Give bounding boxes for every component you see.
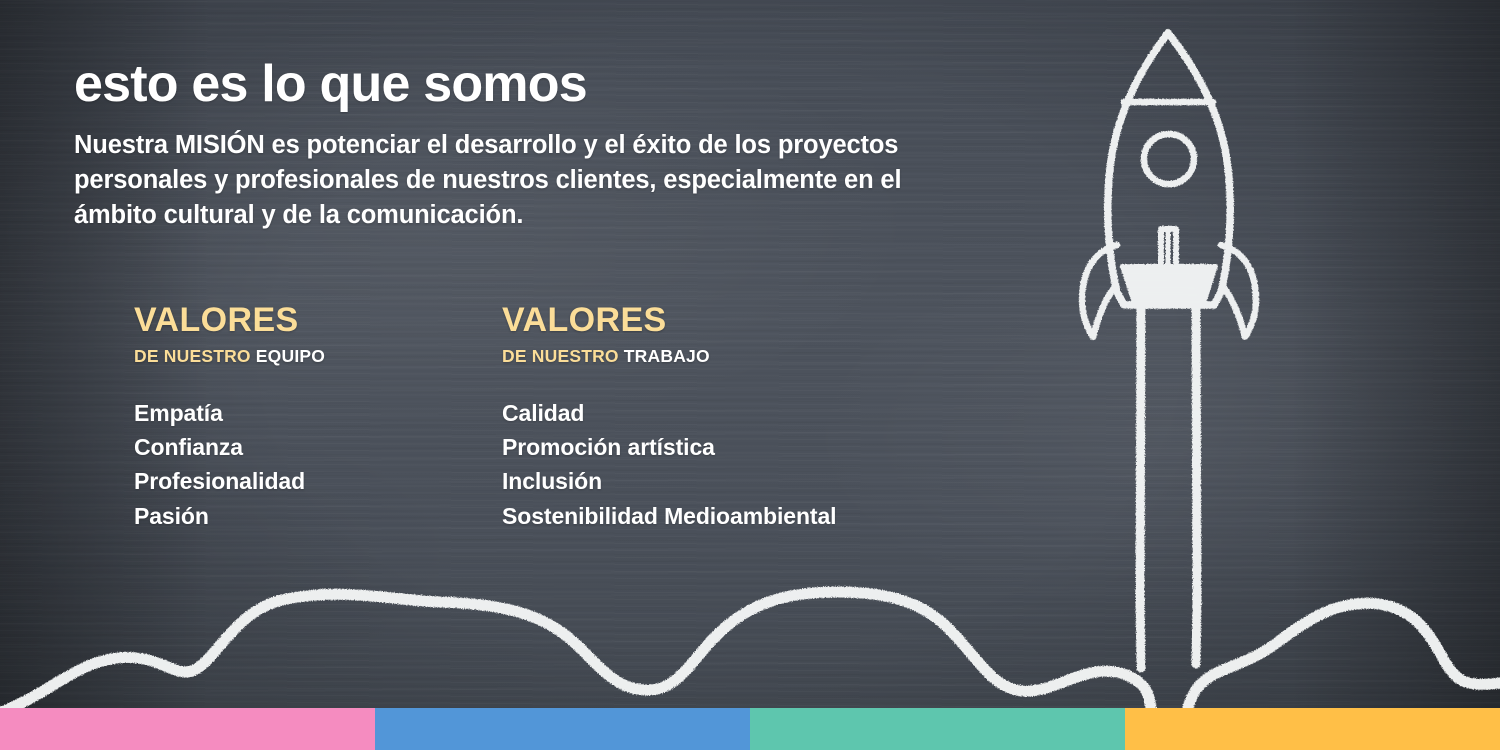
values-list-trabajo: Calidad Promoción artística Inclusión So… [502, 396, 836, 534]
bottom-color-bars [0, 708, 1500, 750]
slide-canvas: esto es lo que somos Nuestra MISIÓN es p… [0, 0, 1500, 750]
values-subheading-strong-trabajo: TRABAJO [624, 346, 710, 366]
bar-teal [750, 708, 1125, 750]
list-item: Empatía [134, 396, 325, 430]
values-column-equipo: VALORES DE NUESTRO EQUIPO Empatía Confia… [134, 303, 325, 533]
mission-statement: Nuestra MISIÓN es potenciar el desarroll… [74, 128, 954, 234]
list-item: Profesionalidad [134, 464, 325, 498]
bar-orange [1125, 708, 1500, 750]
list-item: Inclusión [502, 464, 836, 498]
values-heading-equipo: VALORES [134, 303, 325, 337]
values-heading-trabajo: VALORES [502, 303, 836, 337]
page-title: esto es lo que somos [74, 58, 587, 110]
values-list-equipo: Empatía Confianza Profesionalidad Pasión [134, 396, 325, 534]
list-item: Pasión [134, 499, 325, 533]
text-content: esto es lo que somos Nuestra MISIÓN es p… [0, 0, 1500, 750]
values-subheading-trabajo: DE NUESTRO TRABAJO [502, 348, 836, 366]
values-subheading-prefix-equipo: DE NUESTRO [134, 346, 251, 366]
values-subheading-strong-equipo: EQUIPO [256, 346, 325, 366]
bar-blue [375, 708, 750, 750]
values-subheading-equipo: DE NUESTRO EQUIPO [134, 348, 325, 366]
list-item: Confianza [134, 430, 325, 464]
list-item: Sostenibilidad Medioambiental [502, 499, 836, 533]
list-item: Promoción artística [502, 430, 836, 464]
values-column-trabajo: VALORES DE NUESTRO TRABAJO Calidad Promo… [502, 303, 836, 533]
list-item: Calidad [502, 396, 836, 430]
values-subheading-prefix-trabajo: DE NUESTRO [502, 346, 619, 366]
bar-pink [0, 708, 375, 750]
